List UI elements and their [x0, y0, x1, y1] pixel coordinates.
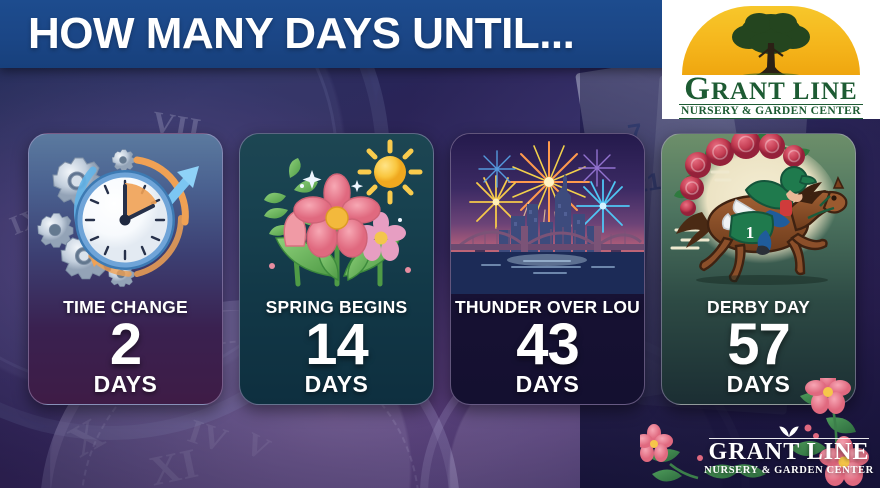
fireworks-bridge-icon: [451, 134, 644, 294]
card-day-unit: DAYS: [305, 372, 369, 396]
card-day-count: 2: [110, 317, 141, 373]
countdown-card-spring-begins[interactable]: SPRING BEGINS 14 DAYS: [239, 133, 434, 405]
racehorse-roses-icon: 1: [662, 134, 855, 294]
card-day-count: 43: [516, 317, 579, 373]
countdown-card-thunder-over-lou[interactable]: THUNDER OVER LOU 43 DAYS: [450, 133, 645, 405]
brand-logo-bottom[interactable]: GRANT LINE NURSERY & GARDEN CENTER: [700, 425, 878, 477]
brand-tagline-top: NURSERY & GARDEN CENTER: [679, 104, 863, 119]
card-day-unit: DAYS: [516, 372, 580, 396]
card-day-unit: DAYS: [94, 372, 158, 396]
brand-logo-top[interactable]: GRANT LINE NURSERY & GARDEN CENTER: [662, 0, 880, 119]
tree-icon: [719, 9, 823, 75]
card-day-count: 57: [727, 317, 790, 373]
sun-arch-shape: [682, 6, 860, 75]
brand-tagline-bottom: NURSERY & GARDEN CENTER: [704, 465, 874, 477]
svg-text:1: 1: [746, 223, 755, 242]
flowers-sun-icon: [240, 134, 433, 294]
infographic-canvas: VII IX X XI IV V 7 14 28 21 HOW MANY DAY…: [0, 0, 880, 488]
brand-name-bottom: GRANT LINE: [709, 438, 870, 465]
leaf-icon: [768, 425, 810, 437]
brand-name-top: GRANT LINE: [684, 76, 857, 105]
countdown-card-derby-day[interactable]: 1 DERBY DAY 57 DAYS: [661, 133, 856, 405]
countdown-card-time-change[interactable]: TIME CHANGE 2 DAYS: [28, 133, 223, 405]
brand-name-rest: RANT LINE: [711, 78, 858, 105]
page-title: HOW MANY DAYS UNTIL...: [28, 8, 574, 60]
clock-gears-icon: [29, 134, 222, 294]
countdown-card-row: TIME CHANGE 2 DAYS: [28, 133, 856, 405]
card-day-count: 14: [305, 317, 368, 373]
brand-initial: G: [684, 71, 711, 107]
